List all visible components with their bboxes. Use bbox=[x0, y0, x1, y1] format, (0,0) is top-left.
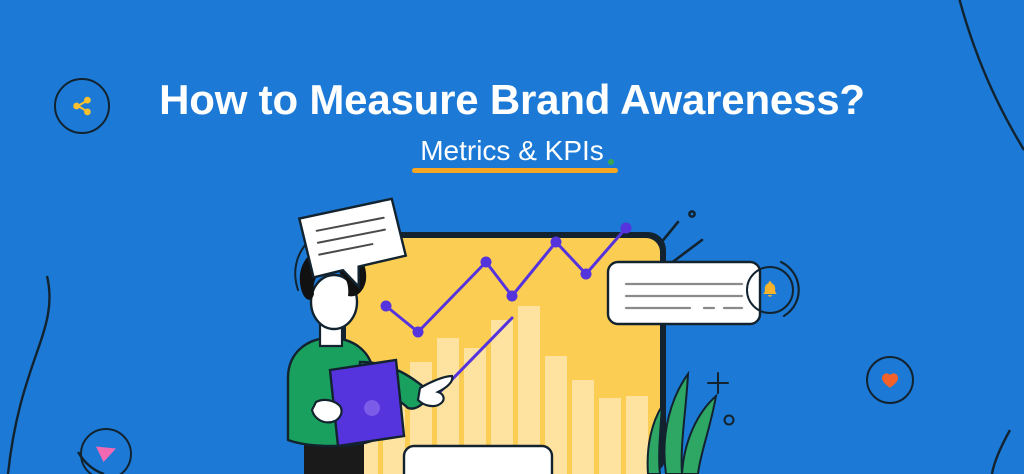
brand-awareness-illustration bbox=[268, 196, 768, 474]
subtitle-accent-dot bbox=[608, 159, 614, 165]
bar bbox=[599, 398, 621, 474]
trend-point bbox=[507, 291, 518, 302]
info-card-bottom bbox=[404, 446, 552, 474]
decor-curve-bottom-right bbox=[992, 430, 1010, 474]
trend-point bbox=[581, 269, 592, 280]
clipboard-button bbox=[364, 400, 380, 416]
triangle-down-icon bbox=[93, 442, 119, 466]
bar bbox=[626, 396, 648, 474]
filter-badge[interactable] bbox=[80, 428, 132, 474]
info-card-right bbox=[608, 262, 760, 324]
decor-curve-left bbox=[8, 276, 50, 474]
page-subtitle: Metrics & KPIs bbox=[420, 136, 604, 167]
trend-point bbox=[481, 257, 492, 268]
person-hand-holding bbox=[312, 400, 342, 422]
subtitle-underline bbox=[412, 168, 618, 173]
heading-block: How to Measure Brand Awareness? Metrics … bbox=[0, 78, 1024, 173]
trend-point bbox=[621, 223, 632, 234]
bell-arc-decoration bbox=[776, 258, 810, 320]
trend-point bbox=[551, 237, 562, 248]
page-title: How to Measure Brand Awareness? bbox=[0, 78, 1024, 122]
subtitle-wrap: Metrics & KPIs bbox=[412, 136, 612, 173]
like-badge[interactable] bbox=[866, 356, 914, 404]
heart-icon bbox=[879, 369, 901, 391]
trend-point bbox=[413, 327, 424, 338]
brand-awareness-banner: How to Measure Brand Awareness? Metrics … bbox=[0, 0, 1024, 474]
trend-point bbox=[381, 301, 392, 312]
bar bbox=[572, 380, 594, 474]
